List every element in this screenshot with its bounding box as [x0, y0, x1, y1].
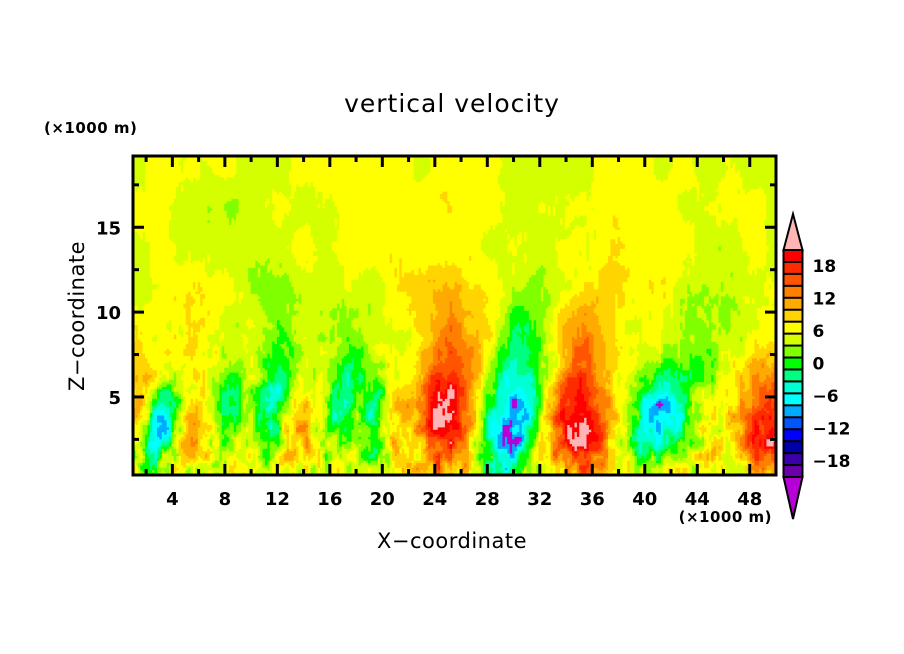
y-axis-unit-label: (×1000 m) [44, 119, 137, 137]
colorbar-band [784, 429, 803, 441]
colorbar-bands [784, 250, 803, 477]
colorbar-band [784, 346, 803, 358]
colorbar-band [784, 334, 803, 346]
x-tick-label: 24 [422, 489, 447, 510]
colorbar-band [784, 298, 803, 310]
colorbar-band [784, 393, 803, 405]
colorbar-tick-label: −6 [813, 387, 839, 407]
colorbar-band [784, 417, 803, 429]
colorbar-band [784, 310, 803, 322]
y-axis-title: Z−coordinate [65, 241, 89, 391]
plot-area [133, 156, 777, 476]
x-tick-label: 36 [580, 489, 605, 510]
colorbar-tick-label: −18 [813, 452, 851, 472]
y-tick-label: 5 [108, 388, 121, 409]
page-title: vertical velocity [344, 89, 560, 118]
colorbar-band [784, 405, 803, 417]
x-tick-label: 16 [317, 489, 342, 510]
colorbar-band [784, 441, 803, 453]
contour-field [133, 156, 777, 476]
x-tick-label: 48 [737, 489, 762, 510]
colorbar-tick-label: 6 [813, 322, 825, 342]
colorbar-band [784, 250, 803, 262]
colorbar-band [784, 322, 803, 334]
colorbar-band [784, 453, 803, 465]
colorbar-band [784, 274, 803, 286]
x-tick-label: 40 [632, 489, 657, 510]
x-tick-label: 44 [685, 489, 710, 510]
x-tick-label: 12 [265, 489, 290, 510]
contour-figure: vertical velocity (×1000 m) 481216202428… [0, 0, 904, 654]
y-tick-label: 15 [96, 218, 121, 239]
colorbar-band [784, 262, 803, 274]
colorbar-tick-label: 0 [813, 355, 825, 375]
colorbar-band [784, 381, 803, 393]
colorbar-tick-label: 12 [813, 290, 837, 310]
x-axis-unit-label: (×1000 m) [679, 508, 772, 526]
x-tick-label: 28 [475, 489, 500, 510]
colorbar-tick-label: 18 [813, 257, 837, 277]
x-tick-label: 32 [527, 489, 552, 510]
colorbar-band [784, 369, 803, 381]
y-tick-label: 10 [96, 303, 121, 324]
colorbar-band [784, 465, 803, 477]
colorbar-band [784, 286, 803, 298]
x-axis-title: X−coordinate [377, 529, 527, 553]
x-tick-label: 4 [166, 489, 179, 510]
x-tick-label: 20 [370, 489, 395, 510]
colorbar-band [784, 358, 803, 370]
colorbar-tick-label: −12 [813, 419, 851, 439]
x-tick-label: 8 [219, 489, 232, 510]
